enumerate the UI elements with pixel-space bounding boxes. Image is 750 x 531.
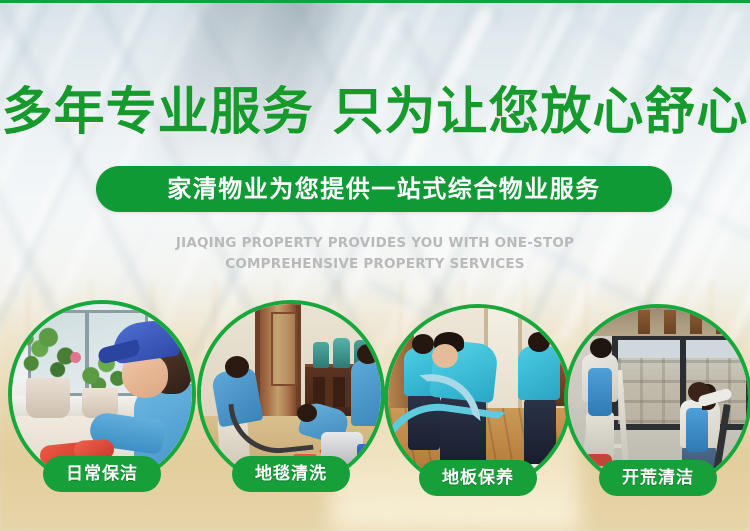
service-label-text: 日常保洁 (66, 465, 138, 483)
subtitle-line-1: JIAQING PROPERTY PROVIDES YOU WITH ONE-S… (0, 233, 750, 254)
service-label-text: 开荒清洁 (622, 469, 694, 487)
subtitle-line-2: COMPREHENSIVE PROPERTY SERVICES (0, 254, 750, 275)
service-card-post-renovation-cleaning[interactable]: 开荒清洁 (564, 304, 750, 492)
service-label-chip: 地毯清洗 (232, 456, 350, 492)
tagline-pill: 家清物业为您提供一站式综合物业服务 (96, 166, 672, 212)
service-card-floor-maintenance[interactable]: 地板保养 (384, 304, 572, 492)
service-card-daily-cleaning[interactable]: 日常保洁 (8, 300, 196, 488)
tagline-text: 家清物业为您提供一站式综合物业服务 (167, 176, 601, 202)
headline: 多年专业服务 只为让您放心舒心 (0, 84, 750, 142)
service-label-text: 地板保养 (442, 469, 514, 487)
subtitle-english: JIAQING PROPERTY PROVIDES YOU WITH ONE-S… (0, 233, 750, 275)
service-label-chip: 地板保养 (419, 460, 537, 496)
service-label-chip: 日常保洁 (43, 456, 161, 492)
promo-banner: 多年专业服务 只为让您放心舒心 家清物业为您提供一站式综合物业服务 JIAQIN… (0, 0, 750, 531)
top-accent-rule (0, 0, 750, 3)
service-label-text: 地毯清洗 (255, 465, 327, 483)
service-card-carpet-cleaning[interactable]: 地毯清洗 (197, 300, 385, 488)
service-label-chip: 开荒清洁 (599, 460, 717, 496)
